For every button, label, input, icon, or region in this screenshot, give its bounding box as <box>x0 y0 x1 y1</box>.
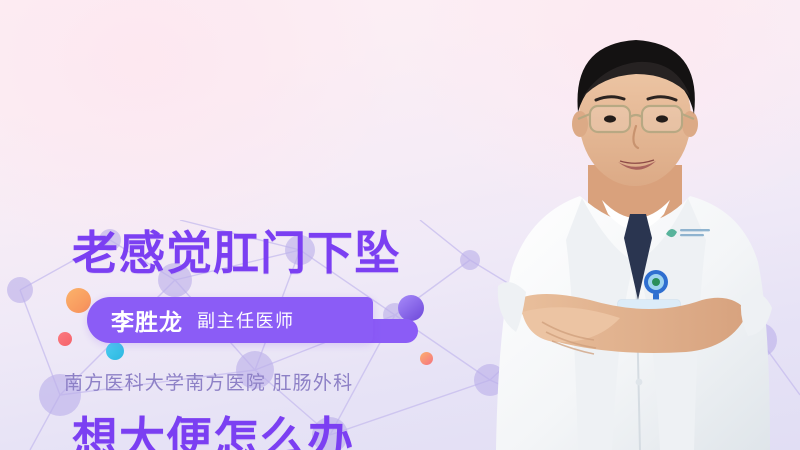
warm-dot-icon <box>420 352 433 365</box>
doctor-title: 副主任医师 <box>197 307 295 333</box>
pink-dot-icon <box>58 332 72 346</box>
title-line-2: 想大便怎么办 <box>72 408 401 450</box>
title-line-1: 老感觉肛门下坠 <box>72 222 401 284</box>
doctor-name: 李胜龙 <box>111 303 183 337</box>
thumbnail-canvas: 老感觉肛门下坠 想大便怎么办 李胜龙 副主任医师 南方医科大学南方医院 肛肠外科 <box>0 0 800 450</box>
cyan-dot-icon <box>106 342 124 360</box>
doctor-name-badge: 李胜龙 副主任医师 <box>60 288 440 360</box>
doctor-portrait <box>470 0 800 450</box>
hospital-department-label: 南方医科大学南方医院 肛肠外科 <box>64 368 353 395</box>
page-title: 老感觉肛门下坠 想大便怎么办 <box>72 98 401 450</box>
violet-dot-icon <box>398 295 424 321</box>
badge-pill: 李胜龙 副主任医师 <box>87 297 373 343</box>
orange-dot-icon <box>66 288 91 313</box>
